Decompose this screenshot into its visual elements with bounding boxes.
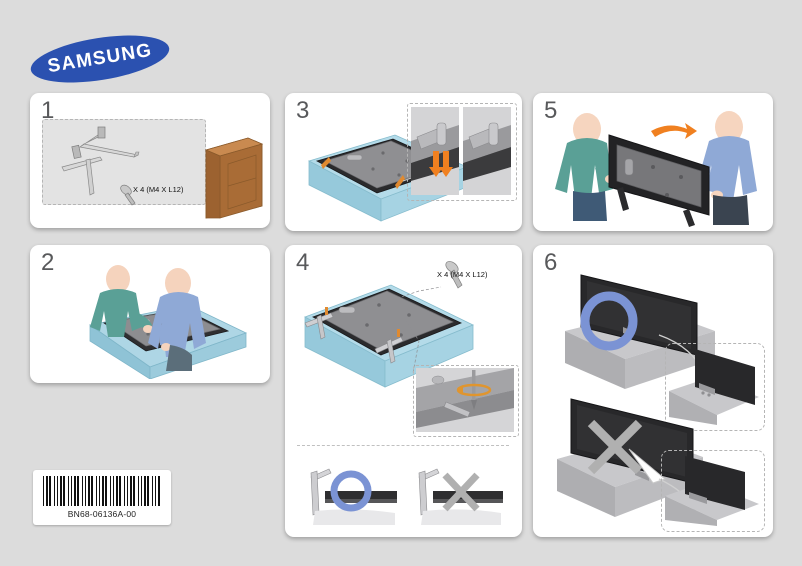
step-card-3: 3 bbox=[285, 93, 522, 231]
person-green-shirt-icon bbox=[90, 265, 153, 337]
step-card-2: 2 bbox=[30, 245, 270, 383]
person-green-shirt-icon bbox=[555, 113, 617, 221]
logo-wordmark: SAMSUNG bbox=[28, 27, 173, 90]
detail-inset-incorrect-artwork bbox=[665, 454, 759, 526]
guide-sheet: SAMSUNG 1 bbox=[0, 0, 802, 566]
step-card-1: 1 X 4 (M4 X L12) bbox=[30, 93, 270, 228]
step-card-4: 4 bbox=[285, 245, 522, 537]
carton-box-icon bbox=[198, 128, 270, 223]
screw-spec-label-1: X 4 (M4 X L12) bbox=[133, 185, 183, 194]
barcode-bars bbox=[43, 476, 161, 506]
screw-spec-label-4: X 4 (M4 X L12) bbox=[437, 270, 487, 279]
step-4-detail-artwork bbox=[416, 368, 514, 432]
step-2-artwork bbox=[38, 259, 266, 379]
barcode-label: BN68-06136A-00 bbox=[33, 470, 171, 525]
samsung-logo: SAMSUNG bbox=[30, 38, 170, 80]
step-card-6: 6 bbox=[533, 245, 773, 537]
step-3-detail-artwork bbox=[411, 107, 511, 195]
step-5-artwork bbox=[543, 103, 771, 227]
step-card-5: 5 bbox=[533, 93, 773, 231]
stand-leg-left-icon bbox=[62, 145, 102, 195]
barcode-text: BN68-06136A-00 bbox=[68, 509, 136, 519]
stand-leg-right-icon bbox=[80, 127, 139, 157]
section-divider-4 bbox=[297, 445, 509, 446]
step-4-ok-ng-artwork bbox=[295, 453, 511, 529]
rotation-arrow-icon bbox=[651, 123, 697, 139]
